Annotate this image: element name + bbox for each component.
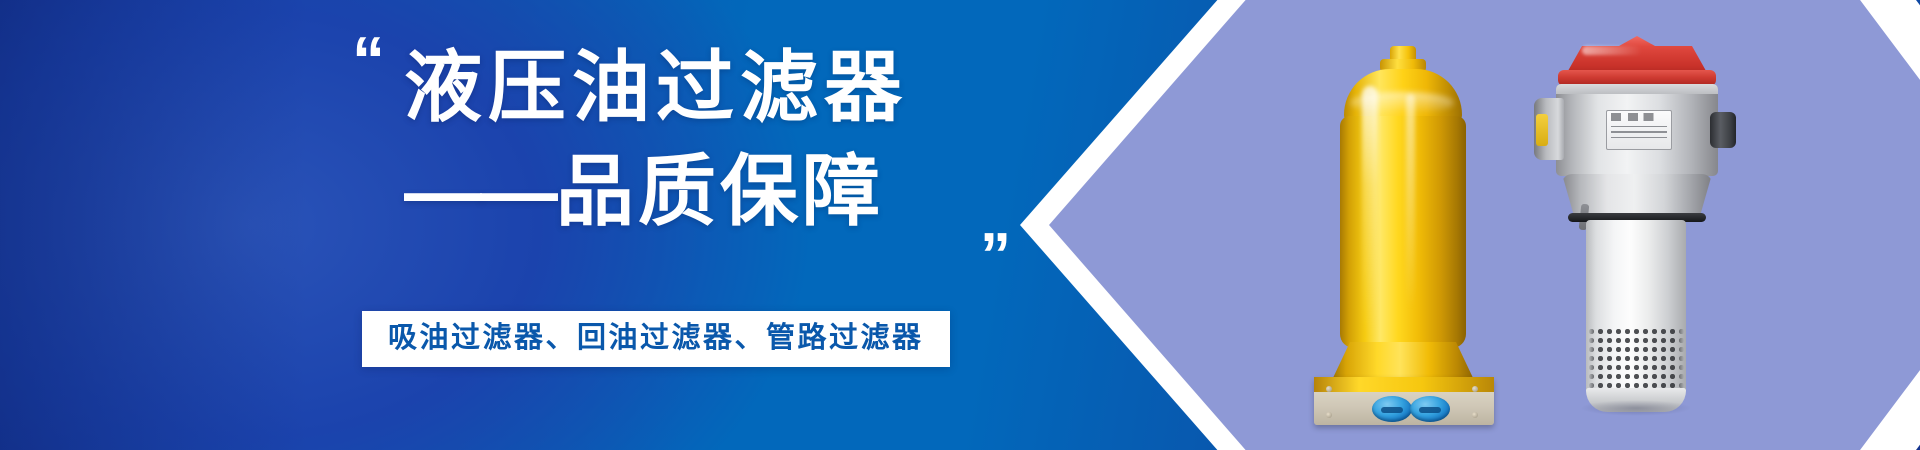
- subtitle-text: 吸油过滤器、回油过滤器、管路过滤器: [388, 324, 924, 353]
- nameplate-row: [1611, 126, 1667, 127]
- return-filter-head-top: [1556, 84, 1718, 94]
- return-filter-perforated-mesh: [1588, 328, 1684, 390]
- subtitle-box: 吸油过滤器、回油过滤器、管路过滤器: [362, 311, 950, 367]
- product-image-pressure-filter: [1310, 46, 1500, 416]
- base-bolt: [1326, 412, 1332, 418]
- filter-base-flare: [1332, 342, 1474, 380]
- return-filter-nameplate: [1606, 110, 1672, 150]
- promo-banner: “ 液压油过滤器 ——品质保障 „ 吸油过滤器、回油过滤器、管路过滤器: [0, 0, 1920, 450]
- filter-body: [1340, 116, 1466, 348]
- filter-mounting-block-top: [1314, 377, 1494, 392]
- headline-line-1: 液压油过滤器: [404, 46, 908, 129]
- banner-copy: “ 液压油过滤器 ——品质保障 „ 吸油过滤器、回油过滤器、管路过滤器: [0, 0, 1060, 450]
- nameplate-row: [1611, 137, 1667, 138]
- opening-quote-mark: “: [352, 34, 387, 87]
- filter-port-cap-outlet: [1410, 396, 1450, 422]
- base-bolt: [1472, 386, 1478, 392]
- filter-gloss-streak-secondary: [1406, 94, 1415, 309]
- filter-port-cap-inlet: [1372, 396, 1412, 422]
- headline-em-dash: ——: [404, 147, 556, 235]
- headline-line-2-text: 品质保障: [556, 147, 884, 235]
- headline-line-2: ——品质保障: [404, 150, 884, 233]
- return-filter-cap-gloss: [1582, 46, 1642, 55]
- base-bolt: [1472, 412, 1478, 418]
- return-filter-knob: [1710, 112, 1736, 148]
- nameplate-header-row: [1611, 113, 1667, 121]
- base-bolt: [1326, 386, 1332, 392]
- return-filter-port-plug: [1536, 114, 1548, 146]
- return-filter-shadow: [1580, 400, 1692, 416]
- product-image-return-filter: [1520, 28, 1750, 428]
- closing-quote-mark: „: [980, 196, 1011, 246]
- filter-gloss-streak: [1362, 86, 1378, 336]
- nameplate-row: [1611, 131, 1667, 132]
